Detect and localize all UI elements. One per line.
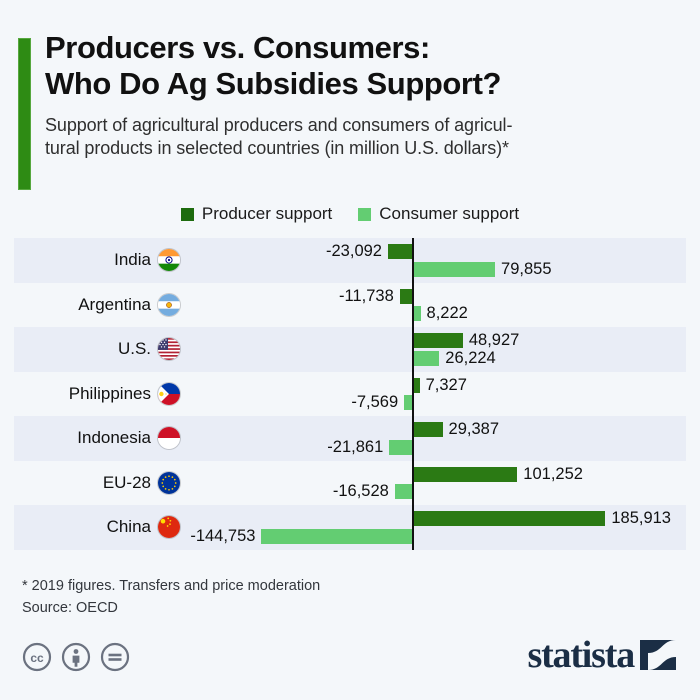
value-label-consumer: -21,861 xyxy=(327,440,383,455)
zero-axis-line xyxy=(412,461,414,506)
bar-producer xyxy=(400,289,412,304)
row-label-indonesia: Indonesia xyxy=(14,416,180,461)
value-label-consumer: 8,222 xyxy=(427,306,468,321)
bar-producer xyxy=(412,333,463,348)
country-name: Argentina xyxy=(78,295,151,315)
cc-by-icon[interactable] xyxy=(61,642,91,672)
zero-axis-line xyxy=(412,327,414,372)
row-label-philippines: Philippines xyxy=(14,372,180,417)
title-line-1: Producers vs. Consumers: xyxy=(45,30,430,65)
title-line-2: Who Do Ag Subsidies Support? xyxy=(45,66,678,102)
license-icons: cc xyxy=(22,642,130,672)
bar-consumer xyxy=(389,440,412,455)
row-plot: -23,09279,855 xyxy=(180,238,686,283)
flag-philippines-icon xyxy=(158,383,180,405)
footnote: * 2019 figures. Transfers and price mode… xyxy=(22,576,320,620)
row-plot: 7,327-7,569 xyxy=(180,372,686,417)
zero-axis-line xyxy=(412,372,414,417)
value-label-consumer: -16,528 xyxy=(333,484,389,499)
value-label-producer: 185,913 xyxy=(611,511,671,526)
infographic-canvas: Producers vs. Consumers: Who Do Ag Subsi… xyxy=(0,0,700,700)
legend-item-consumer[interactable]: Consumer support xyxy=(358,204,519,224)
zero-axis-line xyxy=(412,505,414,550)
legend-swatch-consumer-icon xyxy=(358,208,371,221)
row-label-u-s-: U.S. xyxy=(14,327,180,372)
value-label-producer: 101,252 xyxy=(523,467,583,482)
row-plot: 29,387-21,861 xyxy=(180,416,686,461)
flag-indonesia-icon xyxy=(158,427,180,449)
flag-india-icon xyxy=(158,249,180,271)
chart-legend: Producer support Consumer support xyxy=(0,204,700,224)
country-name: U.S. xyxy=(118,339,151,359)
chart-row: India-23,09279,855 xyxy=(14,238,686,283)
footnote-text: * 2019 figures. Transfers and price mode… xyxy=(22,578,320,594)
country-name: Indonesia xyxy=(77,428,151,448)
bar-producer xyxy=(412,422,443,437)
bar-consumer xyxy=(404,395,412,410)
value-label-producer: -23,092 xyxy=(326,244,382,259)
row-label-india: India xyxy=(14,238,180,283)
subtitle-line-2: tural products in selected countries (in… xyxy=(45,137,678,160)
country-name: EU-28 xyxy=(103,473,151,493)
legend-label-consumer: Consumer support xyxy=(379,204,519,224)
subtitle-line-1: Support of agricultural producers and co… xyxy=(45,115,512,135)
zero-axis-line xyxy=(412,283,414,328)
legend-item-producer[interactable]: Producer support xyxy=(181,204,332,224)
value-label-consumer: -144,753 xyxy=(190,529,255,544)
flag-argentina-icon xyxy=(158,294,180,316)
value-label-consumer: 26,224 xyxy=(445,351,495,366)
cc-nd-icon[interactable] xyxy=(100,642,130,672)
chart-row: EU-28101,252-16,528 xyxy=(14,461,686,506)
chart-row: Argentina-11,7388,222 xyxy=(14,283,686,328)
row-plot: 101,252-16,528 xyxy=(180,461,686,506)
chart-row: Philippines7,327-7,569 xyxy=(14,372,686,417)
chart-row: U.S.48,92726,224 xyxy=(14,327,686,372)
row-label-eu-28: EU-28 xyxy=(14,461,180,506)
bar-producer xyxy=(412,467,517,482)
statista-logo: statista xyxy=(528,636,679,674)
bar-producer xyxy=(388,244,412,259)
cc-icon[interactable]: cc xyxy=(22,642,52,672)
page-subtitle: Support of agricultural producers and co… xyxy=(45,114,678,160)
statista-mark-icon xyxy=(638,638,678,672)
row-plot: 48,92726,224 xyxy=(180,327,686,372)
value-label-producer: 7,327 xyxy=(426,378,467,393)
title-accent-bar xyxy=(18,38,31,190)
country-name: Philippines xyxy=(69,384,151,404)
zero-axis-line xyxy=(412,416,414,461)
country-name: India xyxy=(114,250,151,270)
value-label-producer: -11,738 xyxy=(339,289,394,304)
value-label-consumer: -7,569 xyxy=(351,395,398,410)
value-label-producer: 29,387 xyxy=(449,422,499,437)
statista-wordmark: statista xyxy=(528,636,635,674)
page-title: Producers vs. Consumers: Who Do Ag Subsi… xyxy=(45,30,678,103)
flag-eu-icon xyxy=(158,472,180,494)
source-text: Source: OECD xyxy=(22,598,320,620)
legend-label-producer: Producer support xyxy=(202,204,332,224)
header: Producers vs. Consumers: Who Do Ag Subsi… xyxy=(45,30,678,160)
bar-chart: India-23,09279,855Argentina-11,7388,222U… xyxy=(14,238,686,566)
bar-producer xyxy=(412,511,605,526)
bar-consumer xyxy=(412,262,495,277)
flag-china-icon xyxy=(158,516,180,538)
zero-axis-line xyxy=(412,238,414,283)
value-label-consumer: 79,855 xyxy=(501,262,551,277)
value-label-producer: 48,927 xyxy=(469,333,519,348)
row-plot: 185,913-144,753 xyxy=(180,505,686,550)
chart-row: Indonesia29,387-21,861 xyxy=(14,416,686,461)
bar-consumer xyxy=(395,484,412,499)
bar-consumer xyxy=(261,529,412,544)
legend-swatch-producer-icon xyxy=(181,208,194,221)
country-name: China xyxy=(107,517,151,537)
row-plot: -11,7388,222 xyxy=(180,283,686,328)
row-label-china: China xyxy=(14,505,180,550)
bar-consumer xyxy=(412,351,439,366)
flag-usa-icon xyxy=(158,338,180,360)
svg-text:cc: cc xyxy=(30,651,44,665)
chart-row: China185,913-144,753 xyxy=(14,505,686,550)
row-label-argentina: Argentina xyxy=(14,283,180,328)
